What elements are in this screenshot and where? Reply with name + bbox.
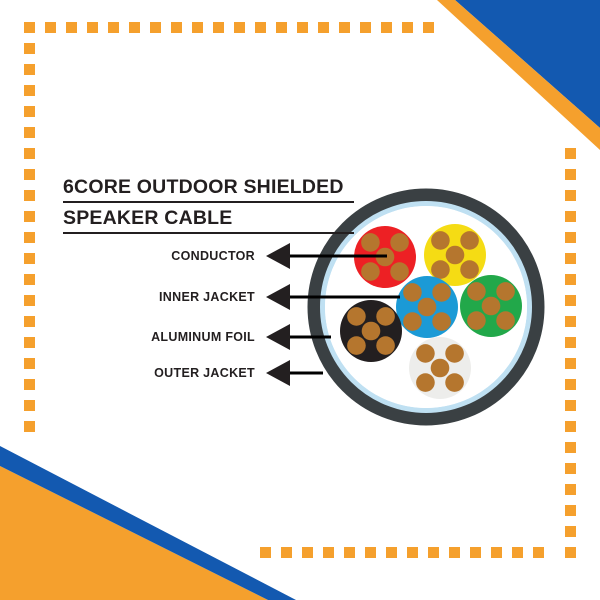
callout-label-conductor: CONDUCTOR bbox=[171, 249, 255, 263]
callout-arrow-conductor bbox=[266, 243, 387, 269]
title-line-1: 6CORE OUTDOOR SHIELDED bbox=[63, 175, 354, 203]
page-title: 6CORE OUTDOOR SHIELDED SPEAKER CABLE bbox=[63, 175, 363, 234]
callout-label-inner-jacket: INNER JACKET bbox=[159, 290, 255, 304]
callout-arrow-inner-jacket bbox=[266, 284, 400, 310]
callout-arrow-outer-jacket bbox=[266, 360, 323, 386]
infographic-canvas: 6CORE OUTDOOR SHIELDED SPEAKER CABLE CON… bbox=[0, 0, 600, 600]
callout-label-aluminum-foil: ALUMINUM FOIL bbox=[151, 330, 255, 344]
callout-arrow-aluminum-foil bbox=[266, 324, 331, 350]
title-line-2: SPEAKER CABLE bbox=[63, 206, 354, 234]
callout-arrows bbox=[0, 0, 600, 600]
callout-label-outer-jacket: OUTER JACKET bbox=[154, 366, 255, 380]
